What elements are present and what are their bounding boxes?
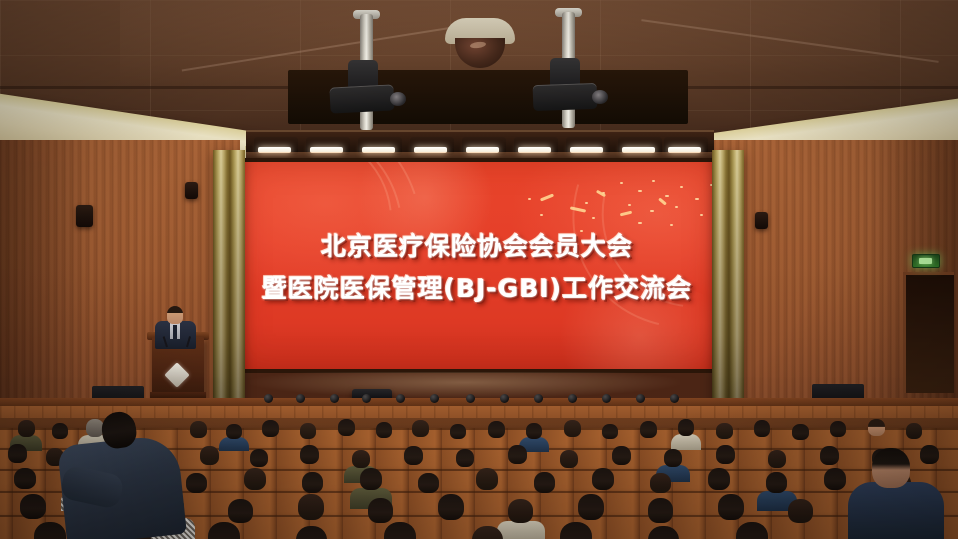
banner-text-block: 北京医疗保险协会会员大会 暨医院医保管理(BJ-GBI)工作交流会 xyxy=(240,162,714,369)
audience-member-head xyxy=(648,498,673,523)
audience-member-head xyxy=(352,450,370,468)
audience-member-head xyxy=(612,446,631,465)
audience-member-head xyxy=(302,472,323,493)
audience-member-head xyxy=(14,468,36,489)
stage-floor-reflection xyxy=(250,372,680,398)
audience-member-head xyxy=(766,472,787,493)
stage-footlight xyxy=(568,394,577,403)
truss-lamp xyxy=(410,137,454,155)
truss-lamp-face xyxy=(622,147,655,153)
truss-lamp xyxy=(462,137,506,155)
truss-lamp-face xyxy=(362,147,395,153)
audience-member-head xyxy=(526,423,542,439)
audience-member-head xyxy=(338,419,355,436)
audience-member-head xyxy=(788,499,813,523)
stage-light-truss xyxy=(246,130,714,159)
audience-member-head xyxy=(678,419,694,436)
stage-footlight xyxy=(362,394,371,403)
truss-lamp xyxy=(358,137,402,155)
audience-member-head xyxy=(418,473,439,493)
audience-member-head xyxy=(534,472,555,493)
stage-footlight xyxy=(430,394,439,403)
audience-member-head xyxy=(298,494,324,520)
stage-footlight xyxy=(466,394,475,403)
stage-footlight xyxy=(534,394,543,403)
audience-member-head xyxy=(476,468,498,490)
audience-member-head xyxy=(650,473,671,493)
audience-member-head xyxy=(412,420,429,437)
audience-member-head xyxy=(906,423,922,439)
truss-lamp-face xyxy=(668,147,701,153)
foreground-person-right-body xyxy=(848,482,944,539)
audience-member-head xyxy=(920,445,939,464)
audience-member-head xyxy=(716,445,735,464)
stage-footlight xyxy=(670,394,679,403)
audience-member-head xyxy=(754,420,770,437)
audience-member-head xyxy=(300,445,319,464)
audience-member-head xyxy=(592,468,614,490)
audience-member-head xyxy=(450,424,466,439)
audience-member-head xyxy=(250,449,268,467)
foreground-person-right-head xyxy=(872,448,910,488)
audience-member-head xyxy=(20,494,46,519)
audience-member-head xyxy=(456,449,474,467)
audience-member-head xyxy=(8,444,27,463)
audience-member-head xyxy=(360,468,382,490)
truss-lamp-face xyxy=(258,147,291,153)
audience-member-head xyxy=(708,468,730,490)
audience-member-shoulders xyxy=(497,521,545,539)
audience-member-head xyxy=(244,468,266,490)
audience-member-head xyxy=(716,423,733,439)
projector-lens-right xyxy=(592,90,608,104)
auditorium-photo: 北京医疗保险协会会员大会 暨医院医保管理(BJ-GBI)工作交流会 xyxy=(0,0,958,539)
audience-member-head xyxy=(200,446,219,465)
foreground-person-left xyxy=(56,412,184,539)
audience-member-head xyxy=(404,446,423,465)
stage-footlight xyxy=(500,394,509,403)
banner-line-2: 暨医院医保管理(BJ-GBI)工作交流会 xyxy=(262,269,692,305)
audience-member-head xyxy=(820,446,839,465)
stage-footlight xyxy=(396,394,405,403)
wall-speaker-left xyxy=(76,205,93,227)
ceiling-projector-left xyxy=(329,84,394,113)
wall-speaker-left-upper xyxy=(185,182,198,199)
audience-member-head xyxy=(664,449,682,467)
wall-speaker-right xyxy=(755,212,768,229)
audience-member-head xyxy=(226,424,242,439)
truss-lamp-face xyxy=(570,147,603,153)
audience-member-head xyxy=(508,445,527,464)
audience-member-head xyxy=(792,424,809,440)
stage-footlight xyxy=(264,394,273,403)
audience-member-head xyxy=(300,423,316,439)
audience-member-head xyxy=(368,498,393,523)
stage-footlight xyxy=(296,394,305,403)
audience-member-head xyxy=(602,424,618,439)
audience-member-head xyxy=(190,421,207,438)
audience-member-head xyxy=(578,494,604,520)
stage-footlight xyxy=(330,394,339,403)
audience-member-head xyxy=(376,422,392,438)
ceiling-projector-right xyxy=(533,83,598,111)
truss-lamp-face xyxy=(414,147,447,153)
audience-member-head xyxy=(868,419,885,436)
audience-member-head xyxy=(718,494,744,520)
truss-lamp-face xyxy=(466,147,499,153)
truss-lamp-face xyxy=(310,147,343,153)
presenter-head xyxy=(167,306,183,324)
audience-member-head xyxy=(228,499,253,523)
stage-footlight xyxy=(636,394,645,403)
audience-member-head xyxy=(262,420,279,437)
projector-lens-left xyxy=(390,92,406,106)
audience-member-head xyxy=(508,499,533,523)
stage-footlight xyxy=(602,394,611,403)
truss-lamp xyxy=(618,137,662,155)
audience-member-head xyxy=(824,468,846,490)
audience-member-head xyxy=(640,421,657,438)
audience-member-head xyxy=(186,473,207,493)
truss-lamp xyxy=(514,137,558,155)
truss-lamp xyxy=(566,137,610,155)
audience-member-shoulders xyxy=(219,437,249,451)
truss-lamp xyxy=(306,137,350,155)
audience-member-head xyxy=(768,450,786,468)
truss-lamp xyxy=(664,137,708,155)
banner-line-1: 北京医疗保险协会会员大会 xyxy=(321,227,633,263)
presenter-tie xyxy=(173,325,177,339)
audience-member-shoulders xyxy=(671,434,701,450)
audience-member-head xyxy=(830,421,846,437)
audience-member-head xyxy=(438,494,464,520)
audience-member-head xyxy=(560,450,578,468)
truss-lamp-face xyxy=(518,147,551,153)
audience-member-head xyxy=(564,420,581,437)
audience-member-head xyxy=(18,420,35,437)
audience-member-head xyxy=(488,421,505,438)
truss-lamp xyxy=(254,137,298,155)
exit-sign-icon xyxy=(912,254,940,268)
